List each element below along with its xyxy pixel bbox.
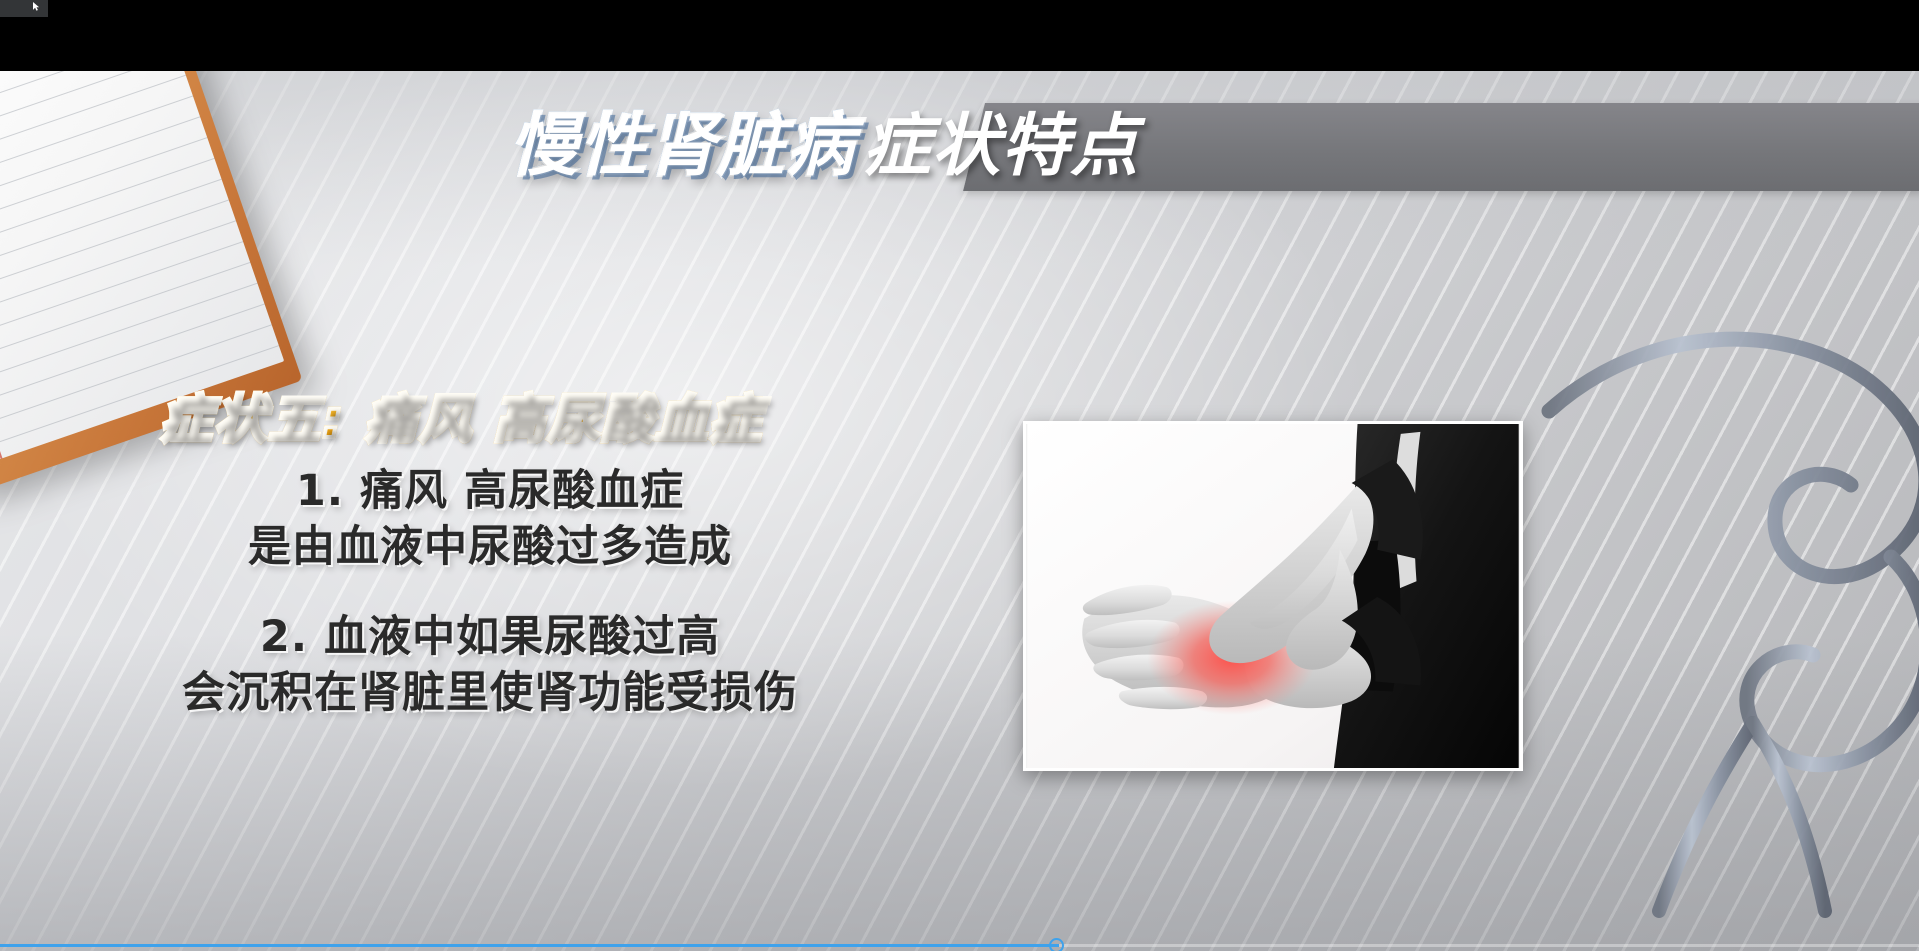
letterbox-top (0, 0, 1919, 71)
body-copy: 1. 痛风 高尿酸血症 是由血液中尿酸过多造成 2. 血液中如果尿酸过高 会沉积… (120, 463, 860, 721)
progress-handle[interactable] (1049, 938, 1064, 951)
slide-title-block: 慢性肾脏病症状特点 (0, 71, 1919, 199)
player-controls[interactable] (0, 937, 1919, 951)
video-player[interactable]: 慢性肾脏病症状特点 症状五: 痛风 高尿酸血症 1. 痛风 高尿酸血症 是由血液… (0, 0, 1919, 951)
symptom-heading-text: 症状五: 痛风 高尿酸血症 (160, 390, 763, 450)
player-top-chip[interactable] (0, 0, 48, 17)
body-spacer (120, 575, 860, 609)
body-line: 是由血液中尿酸过多造成 (120, 519, 860, 575)
video-frame[interactable]: 慢性肾脏病症状特点 症状五: 痛风 高尿酸血症 1. 痛风 高尿酸血症 是由血液… (0, 71, 1919, 951)
title-rest: 症状特点 (859, 107, 1139, 186)
symptom-heading: 症状五: 痛风 高尿酸血症 (160, 377, 880, 452)
stethoscope-icon (1539, 211, 1919, 931)
illustration-photo (1023, 421, 1523, 771)
body-line: 会沉积在肾脏里使肾功能受损伤 (120, 665, 860, 721)
progress-filled (0, 944, 1059, 947)
body-line: 1. 痛风 高尿酸血症 (120, 463, 860, 519)
page-title: 慢性肾脏病症状特点 (0, 105, 1919, 189)
title-highlight: 慢性肾脏病 (510, 107, 859, 186)
body-line: 2. 血液中如果尿酸过高 (120, 609, 860, 665)
cursor-arrow-icon (33, 2, 40, 11)
